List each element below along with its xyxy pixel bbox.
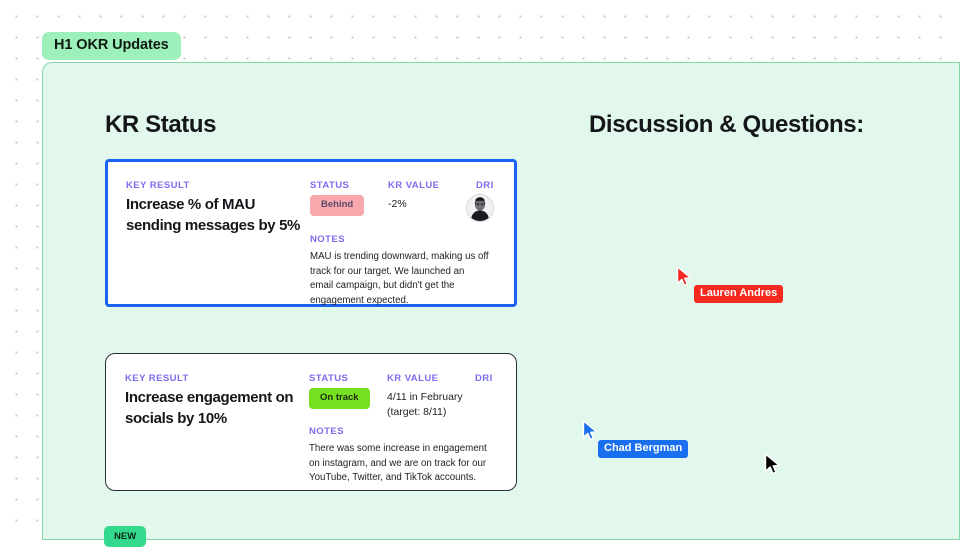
system-mouse-pointer-icon [764, 453, 781, 476]
kr-card-on-track[interactable]: KEY RESULT Increase engagement on social… [105, 353, 517, 491]
status-badge[interactable]: Behind [310, 195, 364, 216]
kr-card-behind[interactable]: KEY RESULT Increase % of MAU sending mes… [105, 159, 517, 307]
cursor-arrow-icon [582, 420, 600, 442]
discussion-heading: Discussion & Questions: [589, 111, 864, 139]
kr-value: 4/11 in February (target: 8/11) [387, 390, 463, 420]
cursor-arrow-icon [676, 266, 694, 288]
col-label-key-result: KEY RESULT [125, 373, 189, 384]
kr-title: Increase % of MAU sending messages by 5% [126, 195, 311, 236]
col-label-dri: DRI [475, 373, 493, 384]
kr-value: -2% [388, 197, 407, 212]
cursor-name-label: Lauren Andres [694, 285, 783, 303]
col-label-status: STATUS [310, 180, 349, 191]
status-badge[interactable]: On track [309, 388, 370, 409]
notes-body: There was some increase in engagement on… [309, 442, 489, 486]
bottom-status-chip[interactable]: NEW [104, 526, 146, 547]
slide-frame[interactable]: KR Status Discussion & Questions: KEY RE… [42, 62, 960, 540]
col-label-key-result: KEY RESULT [126, 180, 190, 191]
col-label-notes: NOTES [310, 234, 345, 245]
frame-title-badge[interactable]: H1 OKR Updates [42, 32, 181, 60]
dri-avatar[interactable] [466, 194, 494, 222]
avatar-photo [467, 195, 493, 221]
kr-status-heading: KR Status [105, 111, 216, 139]
col-label-notes: NOTES [309, 426, 344, 437]
notes-body: MAU is trending downward, making us off … [310, 250, 490, 309]
col-label-kr-value: KR VALUE [387, 373, 438, 384]
col-label-dri: DRI [476, 180, 494, 191]
col-label-kr-value: KR VALUE [388, 180, 439, 191]
kr-title: Increase engagement on socials by 10% [125, 388, 310, 429]
col-label-status: STATUS [309, 373, 348, 384]
cursor-name-label: Chad Bergman [598, 440, 688, 458]
